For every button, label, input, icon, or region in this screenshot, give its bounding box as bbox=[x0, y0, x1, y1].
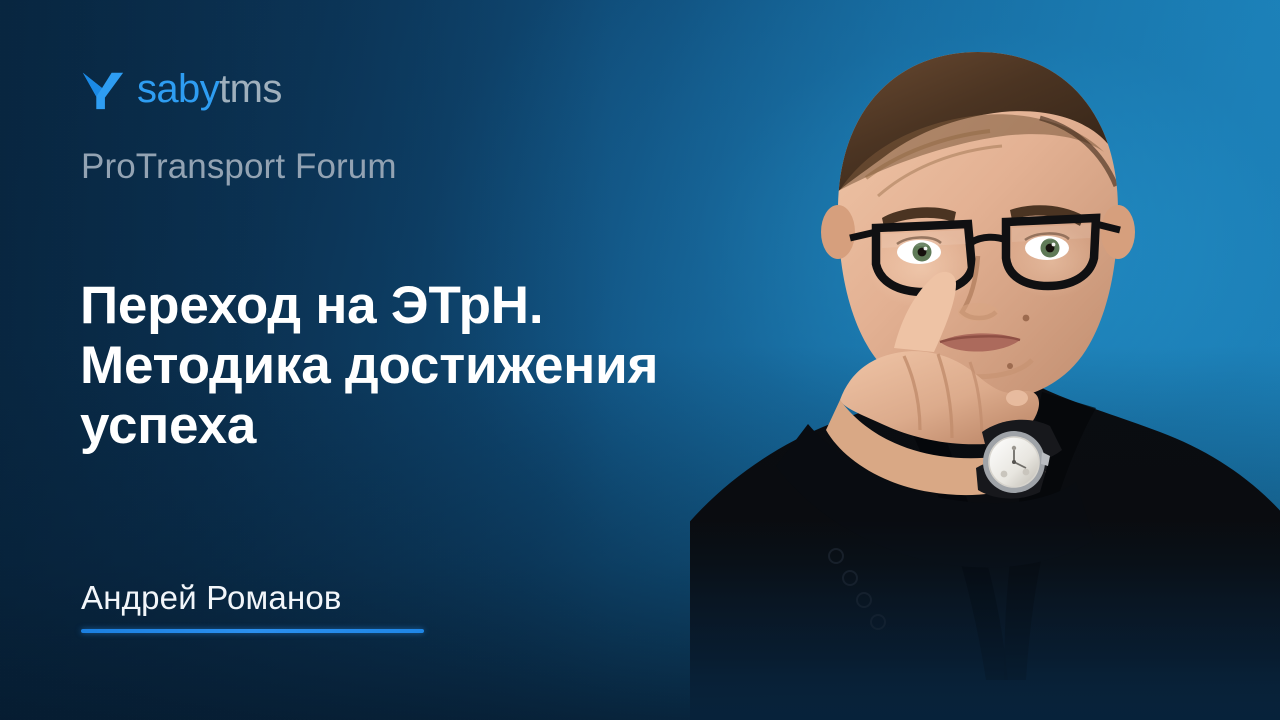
saby-bird-logo-icon bbox=[80, 66, 126, 112]
event-name: ProTransport Forum bbox=[81, 148, 397, 187]
presentation-title-slide: sabytms ProTransport Forum Переход на ЭТ… bbox=[0, 0, 1280, 720]
content-column: sabytms ProTransport Forum Переход на ЭТ… bbox=[80, 0, 800, 720]
page-title: Переход на ЭТрН. Методика достижения усп… bbox=[80, 276, 780, 456]
title-line-3: успеха bbox=[80, 396, 780, 456]
saby-tms-logo: sabytms bbox=[80, 66, 282, 112]
logo-word-saby: saby bbox=[137, 67, 219, 111]
mole-upper bbox=[1023, 315, 1030, 322]
speaker-underline-accent bbox=[81, 629, 424, 633]
head bbox=[820, 42, 1138, 402]
title-line-1: Переход на ЭТрН. bbox=[80, 276, 780, 336]
ear-left bbox=[821, 205, 855, 259]
logo-word-tms: tms bbox=[219, 67, 282, 111]
mole-lower bbox=[1007, 363, 1013, 369]
logo-wordmark: sabytms bbox=[137, 69, 282, 109]
thumbnail bbox=[1006, 390, 1028, 406]
speaker-name: Андрей Романов bbox=[81, 580, 424, 616]
title-line-2: Методика достижения bbox=[80, 336, 780, 396]
speaker-block: Андрей Романов bbox=[81, 580, 424, 633]
